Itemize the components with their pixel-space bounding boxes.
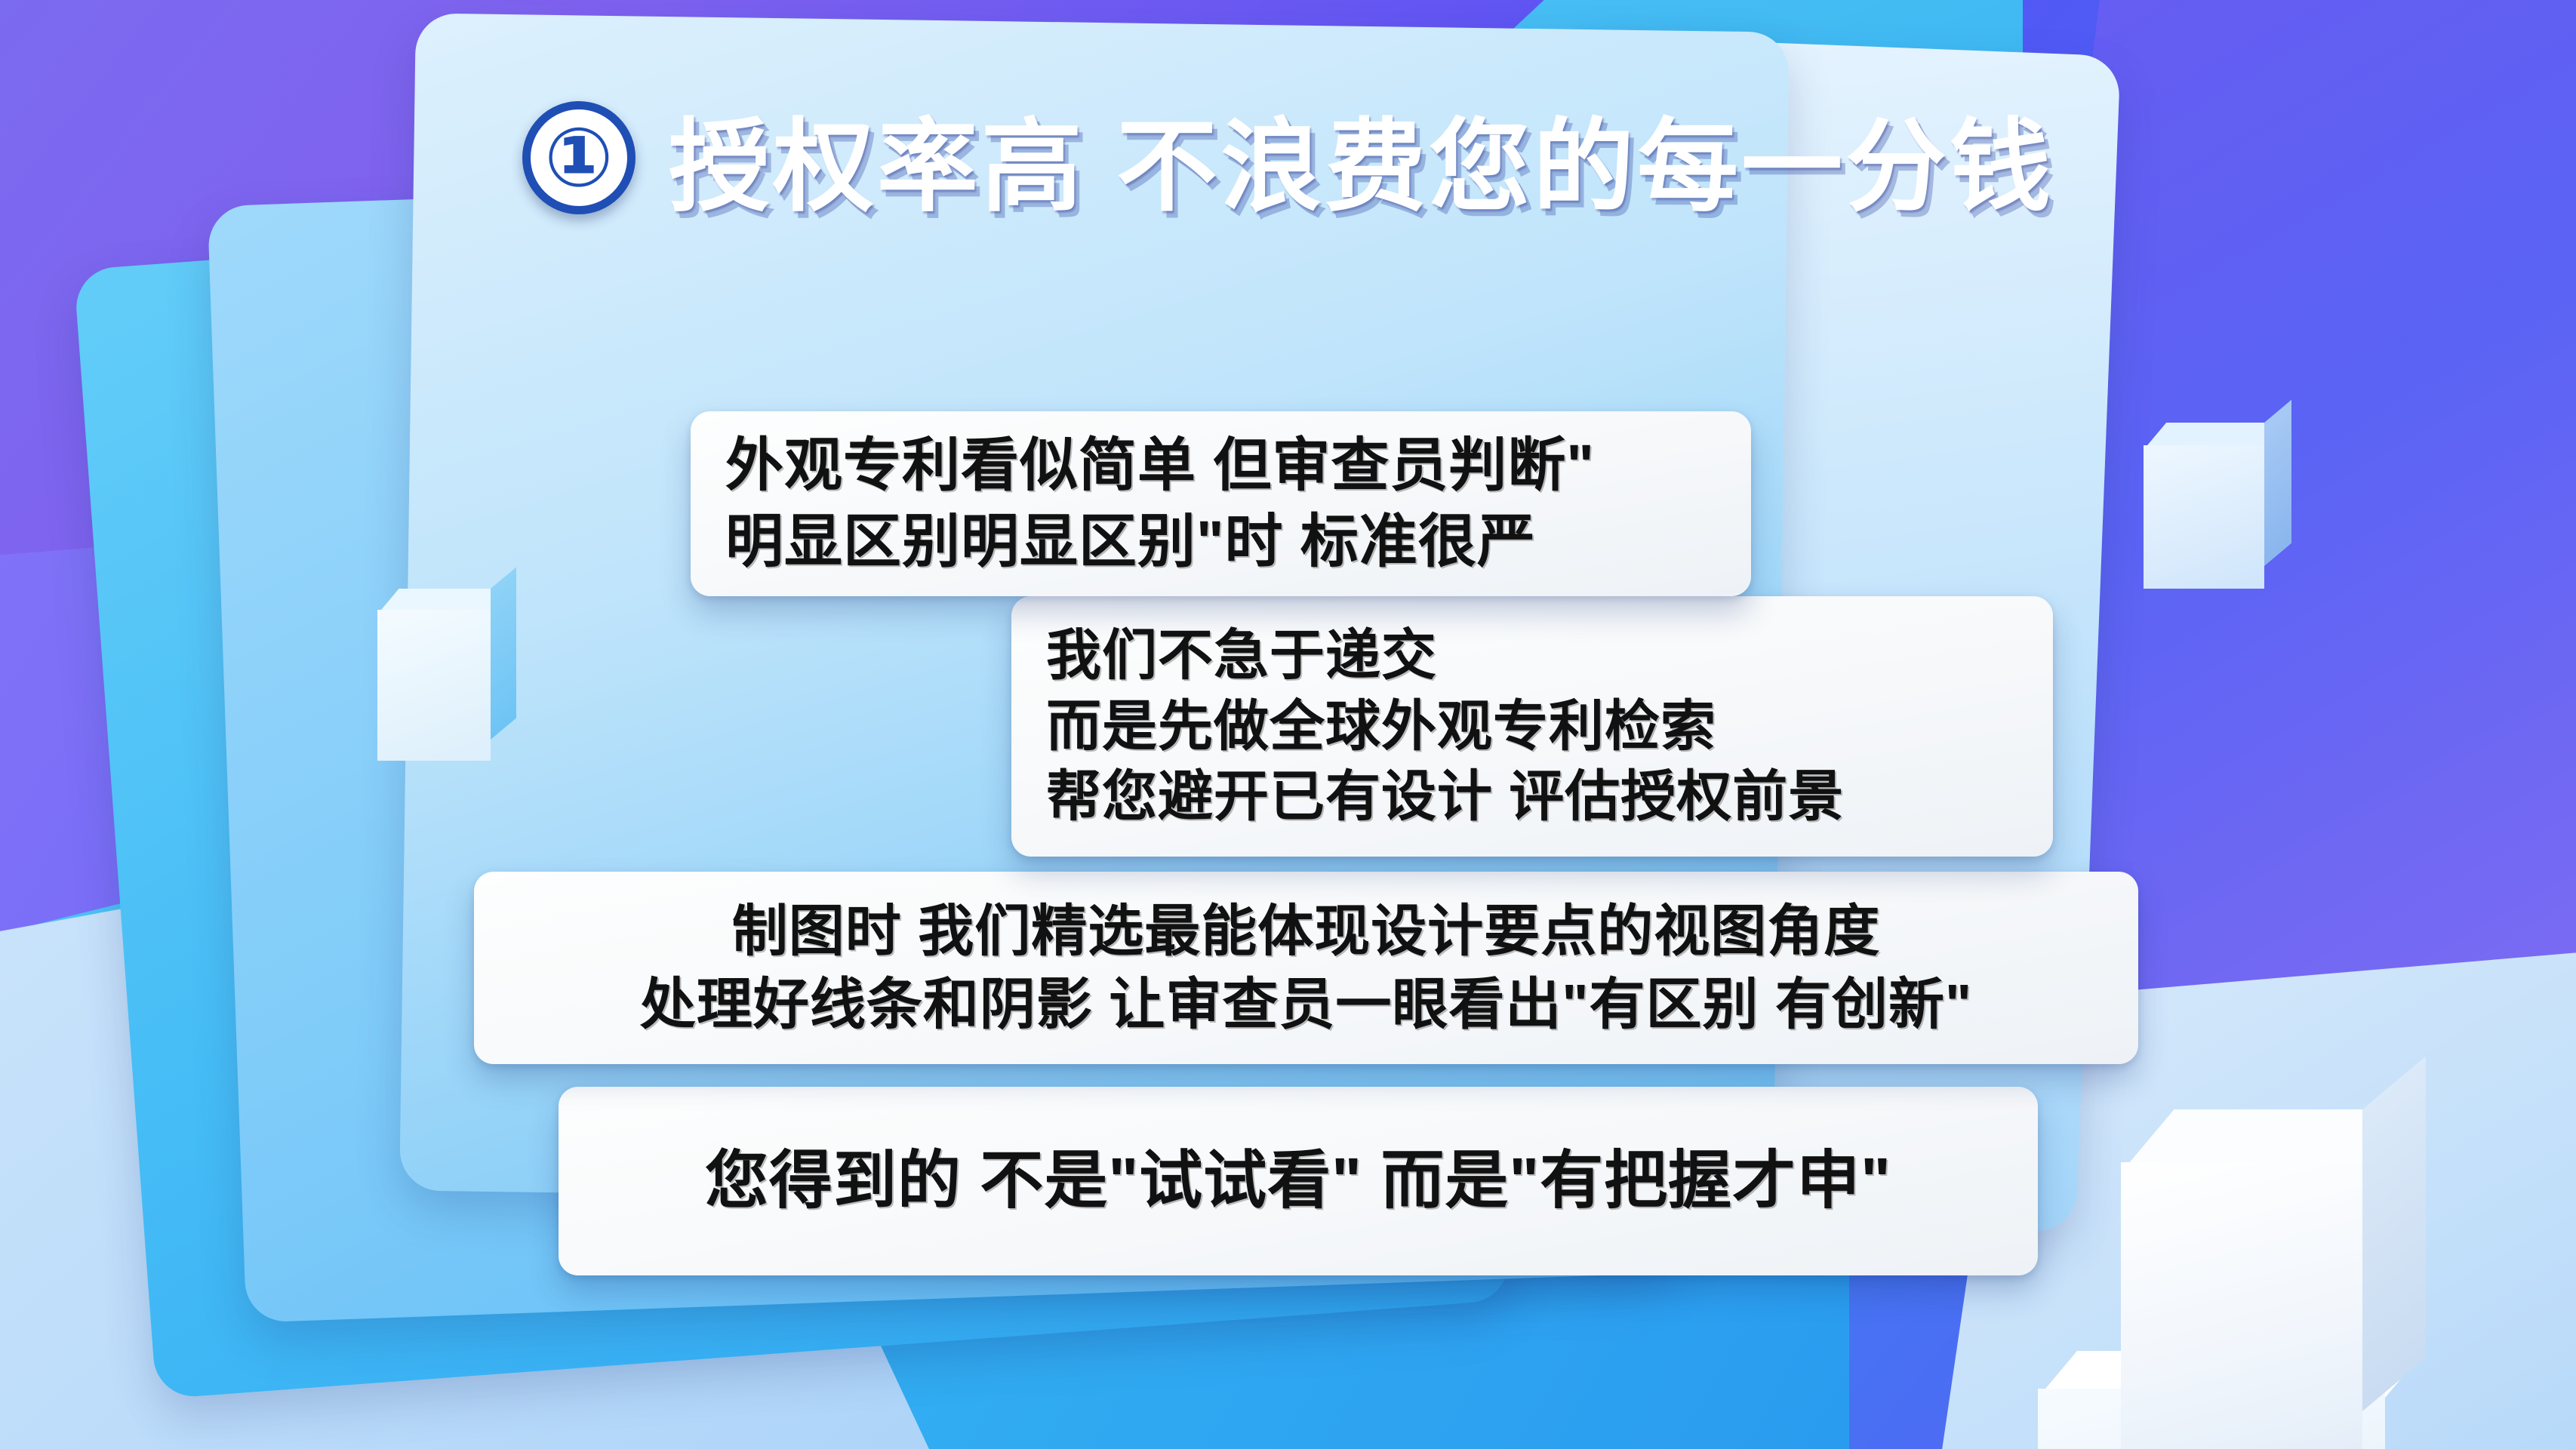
cube-front-face <box>2144 445 2264 589</box>
message-card-2: 我们不急于递交 而是先做全球外观专利检索 帮您避开已有设计 评估授权前景 <box>1011 596 2053 857</box>
decorative-cube-bottom-right <box>2121 1109 2438 1449</box>
message-card-1: 外观专利看似简单 但审查员判断" 明显区别明显区别"时 标准很严 <box>691 411 1751 596</box>
cube-side-face <box>2264 400 2291 566</box>
cube-side-face <box>491 567 516 740</box>
card-line: 我们不急于递交 <box>1046 620 2053 691</box>
card-line: 处理好线条和阴影 让审查员一眼看出"有区别 有创新" <box>504 968 2108 1041</box>
card-line: 帮您避开已有设计 评估授权前景 <box>1046 761 2053 832</box>
cube-side-face <box>2362 1057 2426 1411</box>
card-line: 外观专利看似简单 但审查员判断" <box>725 428 1751 503</box>
card-line: 您得到的 不是"试试看" 而是"有把握才申" <box>705 1140 1891 1222</box>
promo-poster: ① 授权率高 不浪费您的每一分钱 外观专利看似简单 但审查员判断" 明显区别明显… <box>0 0 2576 1449</box>
card-line: 明显区别明显区别"时 标准很严 <box>725 504 1751 580</box>
decorative-cube-right-upper <box>2144 423 2294 611</box>
message-card-3: 制图时 我们精选最能体现设计要点的视图角度 处理好线条和阴影 让审查员一眼看出"… <box>474 872 2138 1064</box>
card-line: 而是先做全球外观专利检索 <box>1046 691 2053 761</box>
message-card-4: 您得到的 不是"试试看" 而是"有把握才申" <box>559 1087 2038 1275</box>
decorative-cube-small-left <box>377 589 513 762</box>
card-line: 制图时 我们精选最能体现设计要点的视图角度 <box>504 895 2108 968</box>
cube-front-face <box>377 610 491 761</box>
cube-front-face <box>2121 1162 2362 1449</box>
